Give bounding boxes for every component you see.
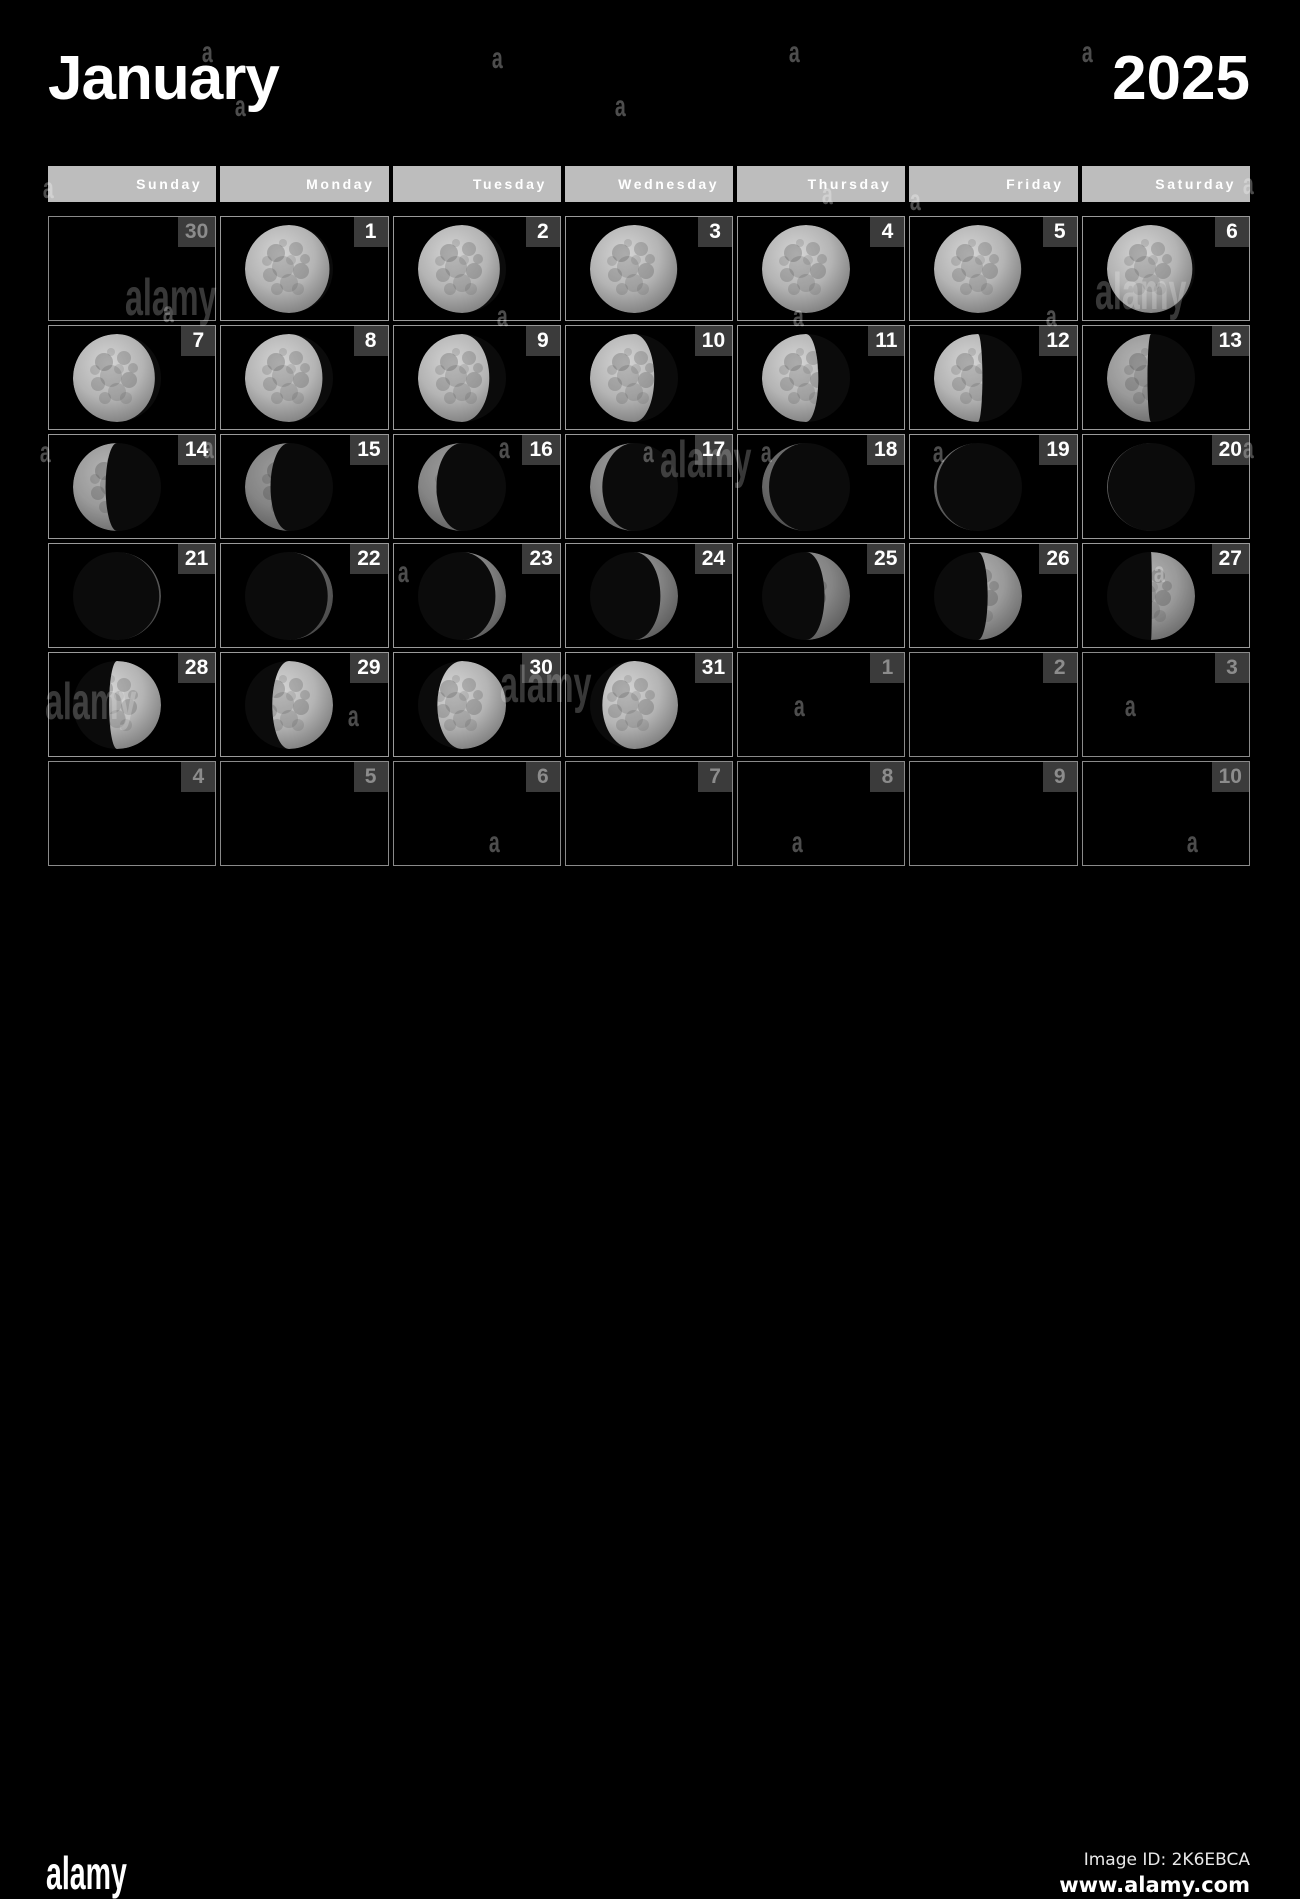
moon-phase-icon — [932, 441, 1024, 533]
moon-phase-icon — [416, 550, 508, 642]
date-number: 6 — [526, 762, 560, 792]
date-number: 27 — [1212, 544, 1249, 574]
moon-phase-icon — [71, 441, 163, 533]
day-cell-9[interactable]: 9 — [909, 761, 1077, 866]
date-number: 16 — [522, 435, 559, 465]
week-row: 45678910 — [48, 761, 1250, 866]
day-cell-21[interactable]: 21 — [48, 543, 216, 648]
day-cell-3[interactable]: 3 — [1082, 652, 1250, 757]
day-cell-15[interactable]: 15 — [220, 434, 388, 539]
day-cell-1[interactable]: 1 — [220, 216, 388, 321]
date-number: 26 — [1039, 544, 1076, 574]
date-number: 21 — [178, 544, 215, 574]
moon-phase-icon — [416, 659, 508, 751]
date-number: 29 — [350, 653, 387, 683]
date-number: 18 — [867, 435, 904, 465]
weeks-container: 3012345678910111213141516171819202122232… — [48, 216, 1250, 866]
weekday-label: Saturday — [1155, 176, 1236, 192]
weekday-label: Sunday — [136, 176, 202, 192]
weekday-header-friday: Friday — [909, 166, 1077, 202]
date-number: 23 — [522, 544, 559, 574]
day-cell-9[interactable]: 9 — [393, 325, 561, 430]
moon-phase-icon — [1105, 223, 1197, 315]
moon-phase-icon — [760, 550, 852, 642]
day-cell-8[interactable]: 8 — [220, 325, 388, 430]
week-row: 21222324252627 — [48, 543, 1250, 648]
day-cell-30[interactable]: 30 — [393, 652, 561, 757]
moon-phase-icon — [1105, 441, 1197, 533]
week-row: 14151617181920 — [48, 434, 1250, 539]
moon-phase-icon — [243, 659, 335, 751]
date-number: 28 — [178, 653, 215, 683]
weekday-header-saturday: Saturday — [1082, 166, 1250, 202]
day-cell-2[interactable]: 2 — [393, 216, 561, 321]
day-cell-10[interactable]: 10 — [1082, 761, 1250, 866]
date-number: 1 — [870, 653, 904, 683]
week-row: 78910111213 — [48, 325, 1250, 430]
day-cell-3[interactable]: 3 — [565, 216, 733, 321]
calendar-header: January 2025 — [0, 0, 1300, 150]
year-label: 2025 — [1112, 48, 1250, 110]
day-cell-22[interactable]: 22 — [220, 543, 388, 648]
day-cell-10[interactable]: 10 — [565, 325, 733, 430]
date-number: 12 — [1039, 326, 1076, 356]
day-cell-17[interactable]: 17 — [565, 434, 733, 539]
day-cell-20[interactable]: 20 — [1082, 434, 1250, 539]
day-cell-4[interactable]: 4 — [737, 216, 905, 321]
date-number: 3 — [698, 217, 732, 247]
moon-phase-icon — [416, 441, 508, 533]
moon-phase-icon — [932, 550, 1024, 642]
moon-phase-icon — [588, 223, 680, 315]
weekday-label: Wednesday — [618, 176, 719, 192]
date-number: 14 — [178, 435, 215, 465]
day-cell-2[interactable]: 2 — [909, 652, 1077, 757]
date-number: 5 — [1043, 217, 1077, 247]
date-number: 8 — [354, 326, 388, 356]
date-number: 11 — [868, 326, 904, 356]
moon-phase-icon — [1105, 332, 1197, 424]
weekday-header-tuesday: Tuesday — [393, 166, 561, 202]
moon-phase-icon — [588, 441, 680, 533]
calendar-grid: SundayMondayTuesdayWednesdayThursdayFrid… — [48, 166, 1250, 870]
day-cell-29[interactable]: 29 — [220, 652, 388, 757]
moon-phase-icon — [588, 550, 680, 642]
weekday-label: Friday — [1006, 176, 1064, 192]
day-cell-13[interactable]: 13 — [1082, 325, 1250, 430]
date-number: 9 — [526, 326, 560, 356]
date-number: 15 — [350, 435, 387, 465]
moon-phase-icon — [416, 332, 508, 424]
date-number: 22 — [350, 544, 387, 574]
day-cell-5[interactable]: 5 — [220, 761, 388, 866]
day-cell-5[interactable]: 5 — [909, 216, 1077, 321]
date-number: 5 — [354, 762, 388, 792]
date-number: 24 — [695, 544, 732, 574]
date-number: 2 — [1043, 653, 1077, 683]
date-number: 13 — [1212, 326, 1249, 356]
moon-phase-icon — [71, 332, 163, 424]
date-number: 30 — [178, 217, 215, 247]
moon-phase-icon — [588, 659, 680, 751]
date-number: 4 — [870, 217, 904, 247]
moon-phase-icon — [760, 441, 852, 533]
week-row: 28293031123 — [48, 652, 1250, 757]
day-cell-1[interactable]: 1 — [737, 652, 905, 757]
moon-phase-icon — [71, 659, 163, 751]
moon-phase-icon — [243, 550, 335, 642]
day-cell-8[interactable]: 8 — [737, 761, 905, 866]
date-number: 31 — [695, 653, 732, 683]
day-cell-26[interactable]: 26 — [909, 543, 1077, 648]
week-row: 30123456 — [48, 216, 1250, 321]
weekday-header-wednesday: Wednesday — [565, 166, 733, 202]
weekday-header-thursday: Thursday — [737, 166, 905, 202]
date-number: 8 — [870, 762, 904, 792]
page-title: January — [48, 48, 279, 110]
weekday-header-sunday: Sunday — [48, 166, 216, 202]
weekday-label: Thursday — [808, 176, 892, 192]
day-cell-6[interactable]: 6 — [1082, 216, 1250, 321]
day-cell-14[interactable]: 14 — [48, 434, 216, 539]
day-cell-24[interactable]: 24 — [565, 543, 733, 648]
moon-phase-icon — [243, 332, 335, 424]
date-number: 19 — [1039, 435, 1076, 465]
day-cell-16[interactable]: 16 — [393, 434, 561, 539]
image-id-label: Image ID: 2K6EBCA — [1084, 1850, 1250, 1870]
date-number: 17 — [695, 435, 732, 465]
moon-phase-icon — [760, 332, 852, 424]
day-cell-12[interactable]: 12 — [909, 325, 1077, 430]
moon-phase-icon — [243, 223, 335, 315]
moon-phase-icon — [416, 223, 508, 315]
weekday-header-row: SundayMondayTuesdayWednesdayThursdayFrid… — [48, 166, 1250, 202]
date-number: 2 — [526, 217, 560, 247]
moon-phase-icon — [932, 223, 1024, 315]
moon-phase-icon — [932, 332, 1024, 424]
date-number: 7 — [698, 762, 732, 792]
day-cell-25[interactable]: 25 — [737, 543, 905, 648]
moon-phase-icon — [71, 550, 163, 642]
moon-phase-icon — [1105, 550, 1197, 642]
day-cell-27[interactable]: 27 — [1082, 543, 1250, 648]
stock-footer: alamy Image ID: 2K6EBCA www.alamy.com — [0, 918, 1300, 1000]
date-number: 9 — [1043, 762, 1077, 792]
alamy-logo[interactable]: alamy — [46, 1850, 127, 1896]
date-number: 10 — [695, 326, 732, 356]
moon-phase-icon — [243, 441, 335, 533]
day-cell-18[interactable]: 18 — [737, 434, 905, 539]
alamy-url[interactable]: www.alamy.com — [1059, 1873, 1250, 1897]
day-cell-7[interactable]: 7 — [565, 761, 733, 866]
date-number: 4 — [181, 762, 215, 792]
day-cell-19[interactable]: 19 — [909, 434, 1077, 539]
date-number: 20 — [1212, 435, 1249, 465]
day-cell-23[interactable]: 23 — [393, 543, 561, 648]
date-number: 6 — [1215, 217, 1249, 247]
date-number: 30 — [522, 653, 559, 683]
moon-phase-icon — [760, 223, 852, 315]
date-number: 25 — [867, 544, 904, 574]
weekday-label: Tuesday — [473, 176, 547, 192]
day-cell-6[interactable]: 6 — [393, 761, 561, 866]
day-cell-31[interactable]: 31 — [565, 652, 733, 757]
day-cell-28[interactable]: 28 — [48, 652, 216, 757]
day-cell-30[interactable]: 30 — [48, 216, 216, 321]
date-number: 3 — [1215, 653, 1249, 683]
weekday-header-monday: Monday — [220, 166, 388, 202]
day-cell-4[interactable]: 4 — [48, 761, 216, 866]
weekday-label: Monday — [306, 176, 375, 192]
date-number: 10 — [1212, 762, 1249, 792]
moon-phase-icon — [588, 332, 680, 424]
date-number: 7 — [181, 326, 215, 356]
day-cell-7[interactable]: 7 — [48, 325, 216, 430]
date-number: 1 — [354, 217, 388, 247]
day-cell-11[interactable]: 11 — [737, 325, 905, 430]
